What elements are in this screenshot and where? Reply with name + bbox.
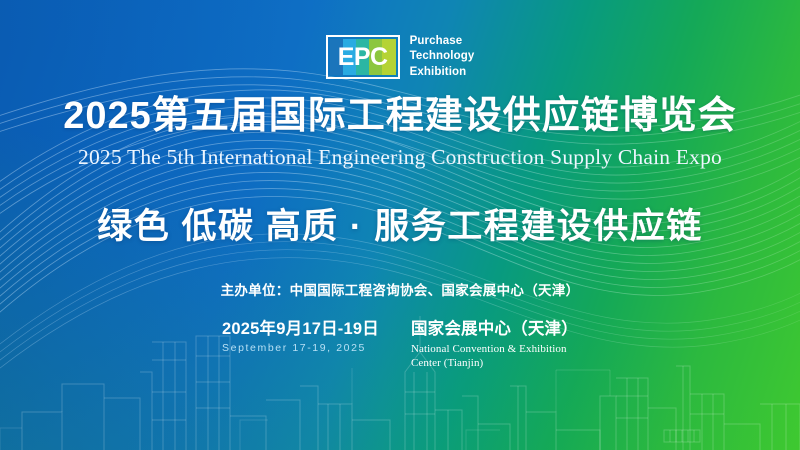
slogan: 绿色 低碳 高质 · 服务工程建设供应链: [97, 209, 703, 244]
logo-tagline-line3: Exhibition: [410, 65, 475, 80]
venue-block: 国家会展中心（天津） National Convention & Exhibit…: [411, 320, 578, 371]
venue-english-line2: Center (Tianjin): [411, 356, 578, 370]
logo-letters: EPC: [328, 37, 398, 77]
date-block: 2025年9月17日-19日 September 17-19, 2025: [222, 320, 379, 355]
banner-content: EPC Purchase Technology Exhibition 2025第…: [0, 0, 800, 450]
venue-english-line1: National Convention & Exhibition: [411, 342, 578, 356]
date-chinese: 2025年9月17日-19日: [222, 320, 379, 339]
logo-tagline-line2: Technology: [410, 49, 475, 64]
venue-english: National Convention & Exhibition Center …: [411, 342, 578, 371]
venue-chinese: 国家会展中心（天津）: [411, 320, 578, 339]
info-row: 2025年9月17日-19日 September 17-19, 2025 国家会…: [222, 320, 578, 371]
page-title-english: 2025 The 5th International Engineering C…: [78, 147, 722, 169]
logo-tagline: Purchase Technology Exhibition: [410, 34, 475, 80]
logo-row: EPC Purchase Technology Exhibition: [326, 33, 475, 81]
epc-logo-icon: EPC: [326, 35, 400, 79]
date-english: September 17-19, 2025: [222, 342, 379, 355]
exhibition-banner: EPC Purchase Technology Exhibition 2025第…: [0, 0, 800, 450]
logo-tagline-line1: Purchase: [410, 34, 475, 49]
organizer-line: 主办单位：中国国际工程咨询协会、国家会展中心（天津）: [221, 284, 580, 298]
page-title-chinese: 2025第五届国际工程建设供应链博览会: [63, 97, 737, 135]
